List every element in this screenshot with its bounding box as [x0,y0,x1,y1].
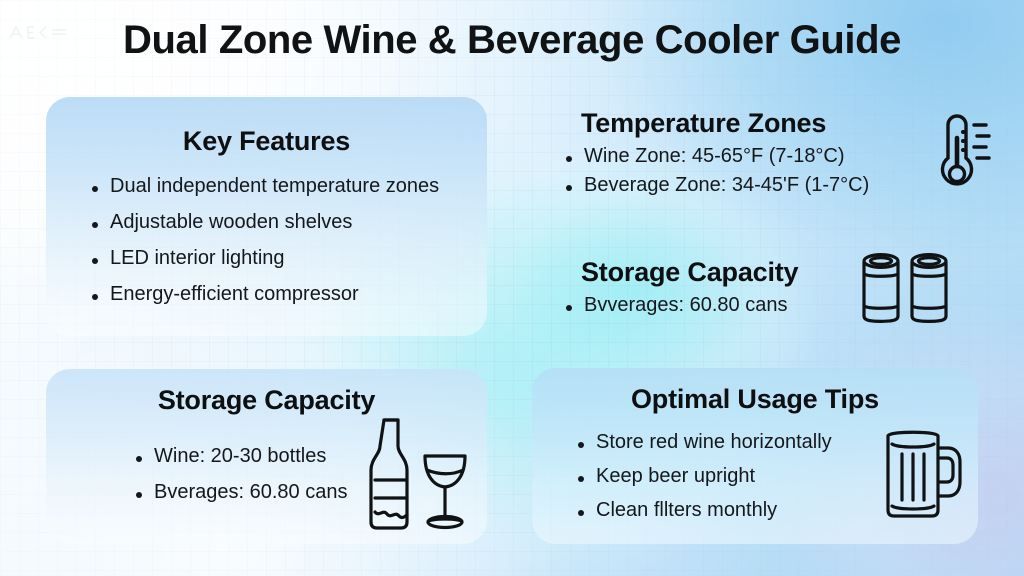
temperature-zones-title: Temperature Zones [581,108,826,139]
key-features-title: Key Features [46,126,487,157]
list-item: Bvverages: 60.80 cans [566,295,787,315]
list-item-label: Bvverages: 60.80 cans [566,295,787,315]
list-item: Beverage Zone: 34-45'F (1-7°C) [566,175,869,195]
optimal-usage-tips-list: Store red wine horizontally Keep beer up… [578,432,832,534]
wine-bottle-and-glass-icon [362,416,472,534]
key-features-list: Dual independent temperature zones Adjus… [92,176,439,320]
thermometer-icon [926,108,992,194]
list-item: LED interior lighting [92,248,439,268]
list-item-label: Store red wine horizontally [578,432,832,452]
list-item-label: Adjustable wooden shelves [92,212,352,232]
list-item-label: LED interior lighting [92,248,285,268]
storage-capacity-title: Storage Capacity [46,385,487,416]
list-item-label: Clean fllters monthly [578,500,777,520]
list-item-label: Keep beer upright [578,466,755,486]
list-item-label: Wine Zone: 45-65°F (7-18°C) [566,146,845,166]
infographic-poster: Dual Zone Wine & Beverage Cooler Guide K… [0,0,1024,576]
temperature-zones-list: Wine Zone: 45-65°F (7-18°C) Beverage Zon… [566,146,869,204]
list-item-label: Beverage Zone: 34-45'F (1-7°C) [566,175,869,195]
beverage-cans-icon [856,248,964,332]
storage-capacity-right-title: Storage Capacity [581,257,798,288]
page-title: Dual Zone Wine & Beverage Cooler Guide [0,18,1024,63]
list-item-label: Dual independent temperature zones [92,176,439,196]
list-item: Wine Zone: 45-65°F (7-18°C) [566,146,869,166]
list-item: Adjustable wooden shelves [92,212,439,232]
list-item: Wine: 20-30 bottles [136,446,347,466]
list-item: Bverages: 60.80 cans [136,482,347,502]
storage-capacity-right-list: Bvverages: 60.80 cans [566,295,787,315]
list-item: Energy-efficient compressor [92,284,439,304]
list-item: Store red wine horizontally [578,432,832,452]
beer-mug-icon [878,420,970,524]
list-item: Dual independent temperature zones [92,176,439,196]
storage-capacity-list: Wine: 20-30 bottles Bverages: 60.80 cans [136,446,347,518]
list-item-label: Energy-efficient compressor [92,284,359,304]
list-item: Keep beer upright [578,466,832,486]
list-item-label: Wine: 20-30 bottles [136,446,326,466]
list-item-label: Bverages: 60.80 cans [136,482,347,502]
list-item: Clean fllters monthly [578,500,832,520]
optimal-usage-tips-title: Optimal Usage Tips [532,384,978,415]
